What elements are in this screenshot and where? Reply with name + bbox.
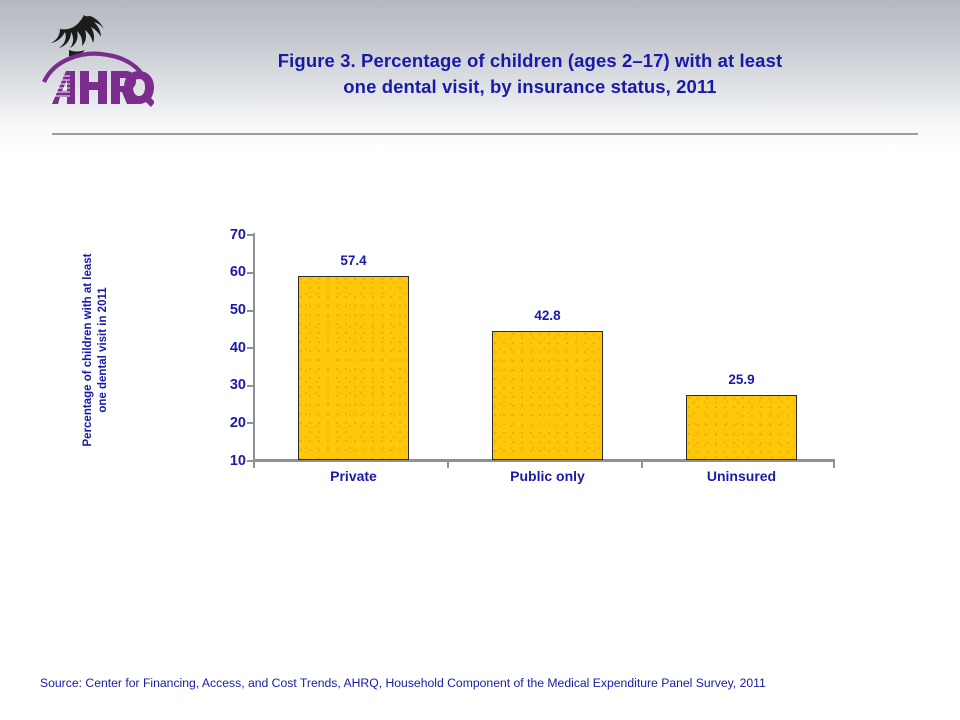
bar-value-public-only: 42.8 bbox=[492, 309, 603, 323]
y-tick-label: 30 bbox=[212, 378, 246, 392]
y-tick-label: 70 bbox=[212, 228, 246, 242]
y-axis-title-line-1: Percentage of children with at least bbox=[81, 215, 96, 485]
bar-public-only[interactable] bbox=[492, 331, 603, 460]
bar-value-uninsured: 25.9 bbox=[686, 373, 797, 387]
bar-private[interactable] bbox=[298, 276, 409, 460]
slide-canvas: Figure 3. Percentage of children (ages 2… bbox=[0, 0, 960, 720]
figure-title-line-2: one dental visit, by insurance status, 2… bbox=[180, 74, 880, 100]
x-category-label-public-only: Public only bbox=[492, 468, 603, 484]
y-tick-mark bbox=[247, 385, 254, 387]
y-tick-mark bbox=[247, 310, 254, 312]
x-category-label-uninsured: Uninsured bbox=[686, 468, 797, 484]
hhs-eagle-icon bbox=[51, 15, 104, 56]
ahrq-logo bbox=[38, 8, 154, 108]
x-tick-mark bbox=[253, 459, 255, 468]
figure-title-line-1: Figure 3. Percentage of children (ages 2… bbox=[180, 48, 880, 74]
x-tick-mark bbox=[833, 459, 835, 468]
source-note: Source: Center for Financing, Access, an… bbox=[40, 676, 920, 691]
y-tick-mark bbox=[247, 234, 254, 236]
bar-chart: Percentage of children with at least one… bbox=[0, 190, 960, 510]
y-tick-label: 20 bbox=[212, 416, 246, 430]
y-axis-tick-labels: 70 60 50 40 30 20 10 bbox=[210, 190, 246, 510]
bar-uninsured[interactable] bbox=[686, 395, 797, 460]
figure-title: Figure 3. Percentage of children (ages 2… bbox=[180, 48, 880, 100]
x-category-label-private: Private bbox=[298, 468, 409, 484]
bar-value-private: 57.4 bbox=[298, 254, 409, 268]
x-tick-mark bbox=[447, 459, 449, 468]
y-tick-label: 10 bbox=[212, 454, 246, 468]
y-tick-label: 50 bbox=[212, 303, 246, 317]
y-tick-label: 60 bbox=[212, 265, 246, 279]
x-tick-mark bbox=[641, 459, 643, 468]
y-tick-mark bbox=[247, 347, 254, 349]
y-tick-mark bbox=[247, 422, 254, 424]
header-divider bbox=[52, 133, 918, 135]
y-tick-mark bbox=[247, 272, 254, 274]
y-tick-label: 40 bbox=[212, 341, 246, 355]
ahrq-logo-svg bbox=[38, 8, 154, 108]
y-axis-title-line-2: one dental visit in 2011 bbox=[96, 215, 111, 485]
y-axis-title: Percentage of children with at least one… bbox=[81, 215, 111, 485]
plot-area: 57.4 Private 42.8 Public only 25.9 Unins… bbox=[253, 190, 835, 510]
